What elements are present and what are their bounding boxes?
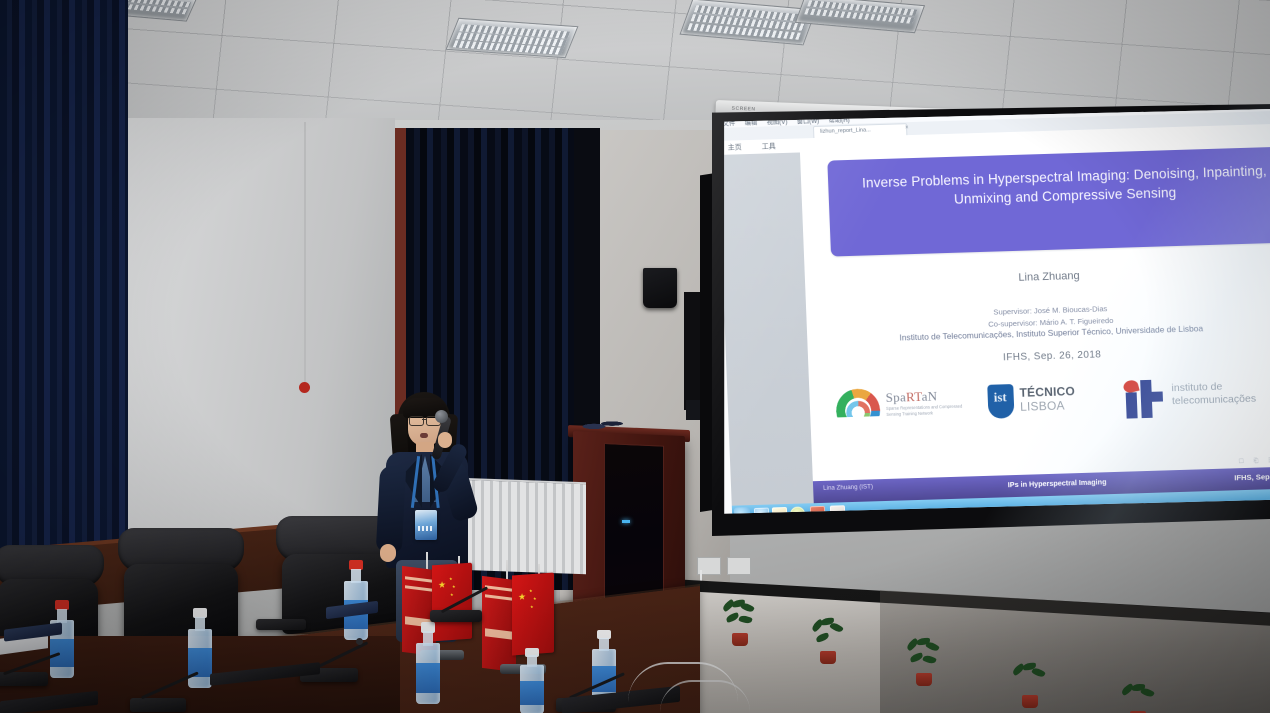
conference-microphone	[256, 600, 306, 630]
presenter-hand-right	[438, 432, 452, 448]
potted-plant	[1012, 662, 1048, 708]
projected-screen: lizhun_report_Lina.pdf - Adobe Acrobat R…	[722, 108, 1270, 522]
microphone-head	[435, 410, 448, 423]
wall-speaker	[643, 268, 677, 308]
potted-plant	[905, 638, 943, 686]
glasses-icon	[409, 416, 424, 426]
tecnico-shield-icon: ist	[987, 384, 1014, 419]
slide-title: Inverse Problems in Hyperspectral Imagin…	[837, 160, 1270, 212]
tecnico-line2: LISBOA	[1020, 398, 1065, 413]
conference-badge	[415, 510, 437, 540]
toolbar-home[interactable]: 主页	[728, 142, 742, 152]
window-curtain-left	[0, 0, 128, 560]
cable-bundle	[570, 418, 630, 432]
spartan-accent: RT	[906, 389, 922, 404]
spartan-post: aN	[921, 388, 937, 403]
close-icon[interactable]: ×	[905, 125, 909, 131]
conference-microphone	[300, 642, 358, 682]
spartan-logo: SpaRTaN Sparse Representations and Compr…	[833, 383, 973, 387]
conference-microphone	[130, 672, 186, 712]
pdf-page-controls[interactable]: ☐ ⎗ ☰ ☰	[1238, 457, 1270, 467]
pdf-tab-label: lizhun_report_Lina...	[820, 127, 871, 135]
spartan-wordmark: SpaRTaN	[885, 388, 937, 406]
it-wordmark: instituto de telecomunicações	[1171, 380, 1256, 409]
presenter-hand-left	[380, 544, 396, 562]
potted-plant	[1120, 684, 1156, 713]
presenter-arm-left	[376, 465, 406, 552]
water-bottle	[50, 600, 74, 678]
spartan-arc-mask	[834, 416, 885, 436]
spartan-subtitle: Sparse Representations and Compressed Se…	[886, 403, 972, 417]
slide-event: IFHS, Sep. 26, 2018	[808, 343, 1270, 369]
slide-logo-row: SpaRTaN Sparse Representations and Compr…	[809, 373, 1270, 440]
tecnico-line1: TÉCNICO	[1019, 384, 1075, 400]
slide-canvas: Inverse Problems in Hyperspectral Imagin…	[800, 138, 1270, 504]
potted-plant	[810, 618, 846, 664]
wall-cord	[304, 122, 306, 387]
presentation-photo: SCREEN lizhun_report_Lina.pdf - Adobe Ac…	[0, 0, 1270, 713]
fire-alarm	[299, 382, 310, 393]
slide-supervisors: Supervisor: José M. Bioucas-Dias Co-supe…	[806, 297, 1270, 346]
slide-title-banner: Inverse Problems in Hyperspectral Imagin…	[827, 146, 1270, 256]
it-mark-icon	[1121, 377, 1167, 420]
slide-author: Lina Zhuang	[805, 263, 1270, 290]
toolbar-tools[interactable]: 工具	[762, 141, 776, 151]
pdf-navigation-pane[interactable]	[722, 152, 815, 505]
water-bottle	[416, 622, 440, 704]
tecnico-lisboa-logo: ist TÉCNICO LISBOA	[987, 379, 1107, 383]
conference-microphone	[430, 588, 482, 622]
presenter-mouth	[420, 433, 428, 438]
it-line2: telecomunicações	[1172, 393, 1257, 409]
cabinet-glass-door	[604, 443, 664, 606]
water-bottle	[344, 560, 368, 640]
potted-plant	[722, 600, 758, 646]
glasses-bridge	[422, 419, 426, 420]
equipment-led	[622, 520, 630, 523]
dark-wall-column	[574, 128, 600, 428]
footer-right: IFHS, Sep. 26, 20	[1234, 471, 1270, 482]
spartan-pre: Spa	[885, 389, 906, 405]
instituto-telecomunicacoes-logo: instituto de telecomunicações	[1121, 373, 1270, 378]
water-bottle	[520, 648, 544, 713]
tecnico-mark: ist	[993, 389, 1007, 405]
office-chair	[110, 528, 250, 644]
